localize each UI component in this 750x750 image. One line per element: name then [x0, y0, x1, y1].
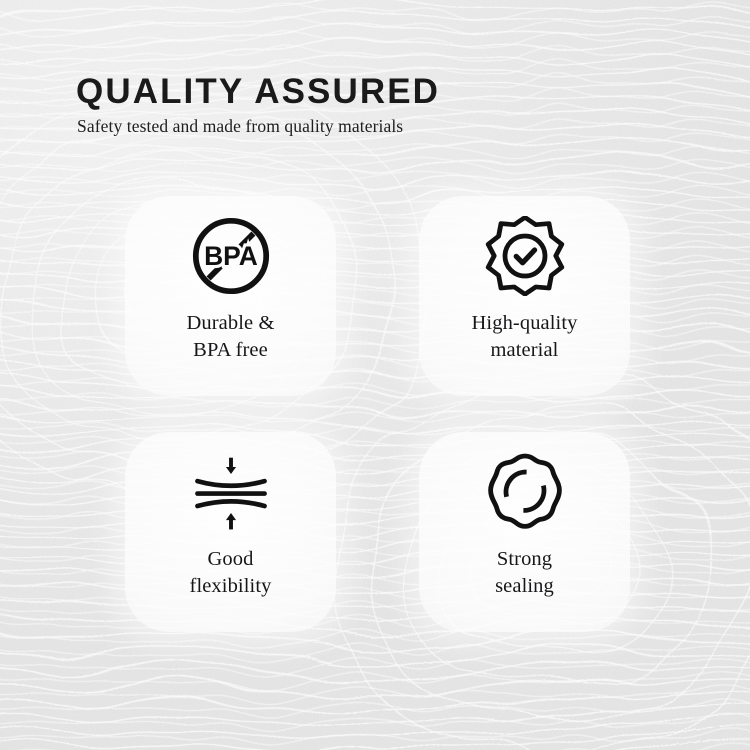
- product-feature-infographic: QUALITY ASSURED Safety tested and made f…: [0, 0, 750, 750]
- quality-badge-check-icon: [485, 200, 565, 312]
- bpa-free-icon: BPA: [187, 200, 275, 312]
- bpa-icon-text: BPA: [204, 241, 258, 271]
- page-subtitle: Safety tested and made from quality mate…: [77, 117, 676, 136]
- feature-card-grid: BPA Durable & BPA free High-quality mate…: [125, 196, 630, 632]
- feature-label: Good flexibility: [190, 546, 272, 600]
- page-title: QUALITY ASSURED: [76, 74, 676, 110]
- feature-card-bpa-free: BPA Durable & BPA free: [125, 196, 336, 396]
- feature-label: Strong sealing: [495, 546, 554, 600]
- header-block: QUALITY ASSURED Safety tested and made f…: [76, 74, 676, 136]
- flexibility-compress-arrows-icon: [188, 436, 274, 548]
- feature-label: High-quality material: [472, 310, 578, 364]
- seal-wavy-icon: [485, 436, 565, 548]
- feature-card-good-flexibility: Good flexibility: [125, 432, 336, 632]
- feature-card-strong-sealing: Strong sealing: [419, 432, 630, 632]
- feature-card-high-quality-material: High-quality material: [419, 196, 630, 396]
- feature-label: Durable & BPA free: [187, 310, 275, 364]
